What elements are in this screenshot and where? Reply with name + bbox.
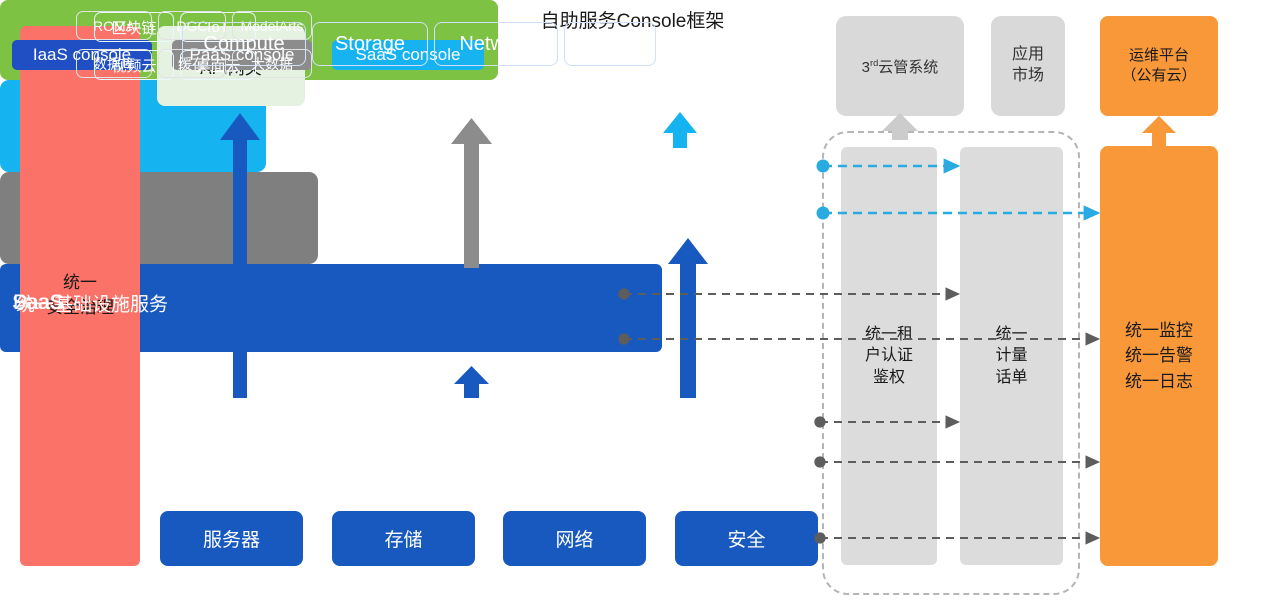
arrow-iaas-to-paas [454, 366, 489, 398]
resource-box-storage[interactable]: 存储 [332, 511, 475, 566]
resource-box-security[interactable]: 安全 [675, 511, 818, 566]
paas-chip-roma[interactable]: ROMA [76, 11, 152, 40]
unified-tenant-auth-column[interactable]: 统一租 户认证 鉴权 [841, 147, 937, 565]
metering-line3: 话单 [995, 367, 1027, 389]
resource-box-server[interactable]: 服务器 [160, 511, 303, 566]
tenant-auth-line2: 户认证 [865, 345, 913, 367]
iaas-chip-network[interactable]: Network [434, 22, 558, 66]
arrow-iaas-to-saas [668, 238, 708, 398]
third-party-label: 3rd云管系统 [862, 56, 939, 77]
app-market-line2: 市场 [1012, 66, 1044, 87]
tenant-auth-line3: 鉴权 [865, 367, 913, 389]
ops-panel-line1: 统一监控 [1125, 318, 1193, 344]
ops-panel-label: 统一监控 统一告警 统一日志 [1125, 318, 1193, 395]
iaas-chip-cce[interactable]: CCE [564, 22, 656, 66]
app-market-label: 应用 市场 [1012, 45, 1044, 87]
ops-platform-top-label: 运维平台 （公有云） [1121, 46, 1196, 87]
iaas-chip-storage[interactable]: Storage [312, 22, 428, 66]
app-market-box[interactable]: 应用 市场 [991, 16, 1065, 116]
ops-panel-line3: 统一日志 [1125, 369, 1193, 395]
unified-metering-label: 统一 计量 话单 [995, 324, 1027, 389]
app-market-line1: 应用 [1012, 45, 1044, 66]
third-party-prefix: 3 [862, 59, 870, 76]
third-party-cloud-management-box[interactable]: 3rd云管系统 [836, 16, 964, 116]
ops-platform-top-line1: 运维平台 [1121, 46, 1196, 66]
metering-line1: 统一 [995, 324, 1027, 346]
third-party-text: 云管系统 [878, 59, 938, 76]
metering-line2: 计量 [995, 345, 1027, 367]
unified-metering-billing-column[interactable]: 统一 计量 话单 [960, 147, 1063, 565]
unified-ops-monitoring-panel[interactable]: 统一监控 统一告警 统一日志 [1100, 146, 1218, 566]
tenant-auth-line1: 统一租 [865, 324, 913, 346]
unified-infrastructure-label: 统一基础设施服务 [16, 289, 168, 316]
arrow-saas-to-console [663, 112, 697, 148]
paas-chip-database[interactable]: 数据库 [76, 49, 152, 78]
ops-panel-line2: 统一告警 [1125, 343, 1193, 369]
arrow-paas-to-console [451, 118, 492, 268]
architecture-diagram: 统一 安全治理 API网关 自助服务Console框架 IaaS console… [0, 0, 1265, 605]
iaas-chip-compute[interactable]: Compute [182, 22, 306, 66]
resource-box-network[interactable]: 网络 [503, 511, 646, 566]
ops-platform-top-line2: （公有云） [1121, 66, 1196, 86]
ops-platform-public-cloud-box[interactable]: 运维平台 （公有云） [1100, 16, 1218, 116]
unified-tenant-auth-label: 统一租 户认证 鉴权 [865, 324, 913, 389]
arrow-ops-panel-to-ops-platform [1142, 116, 1176, 146]
